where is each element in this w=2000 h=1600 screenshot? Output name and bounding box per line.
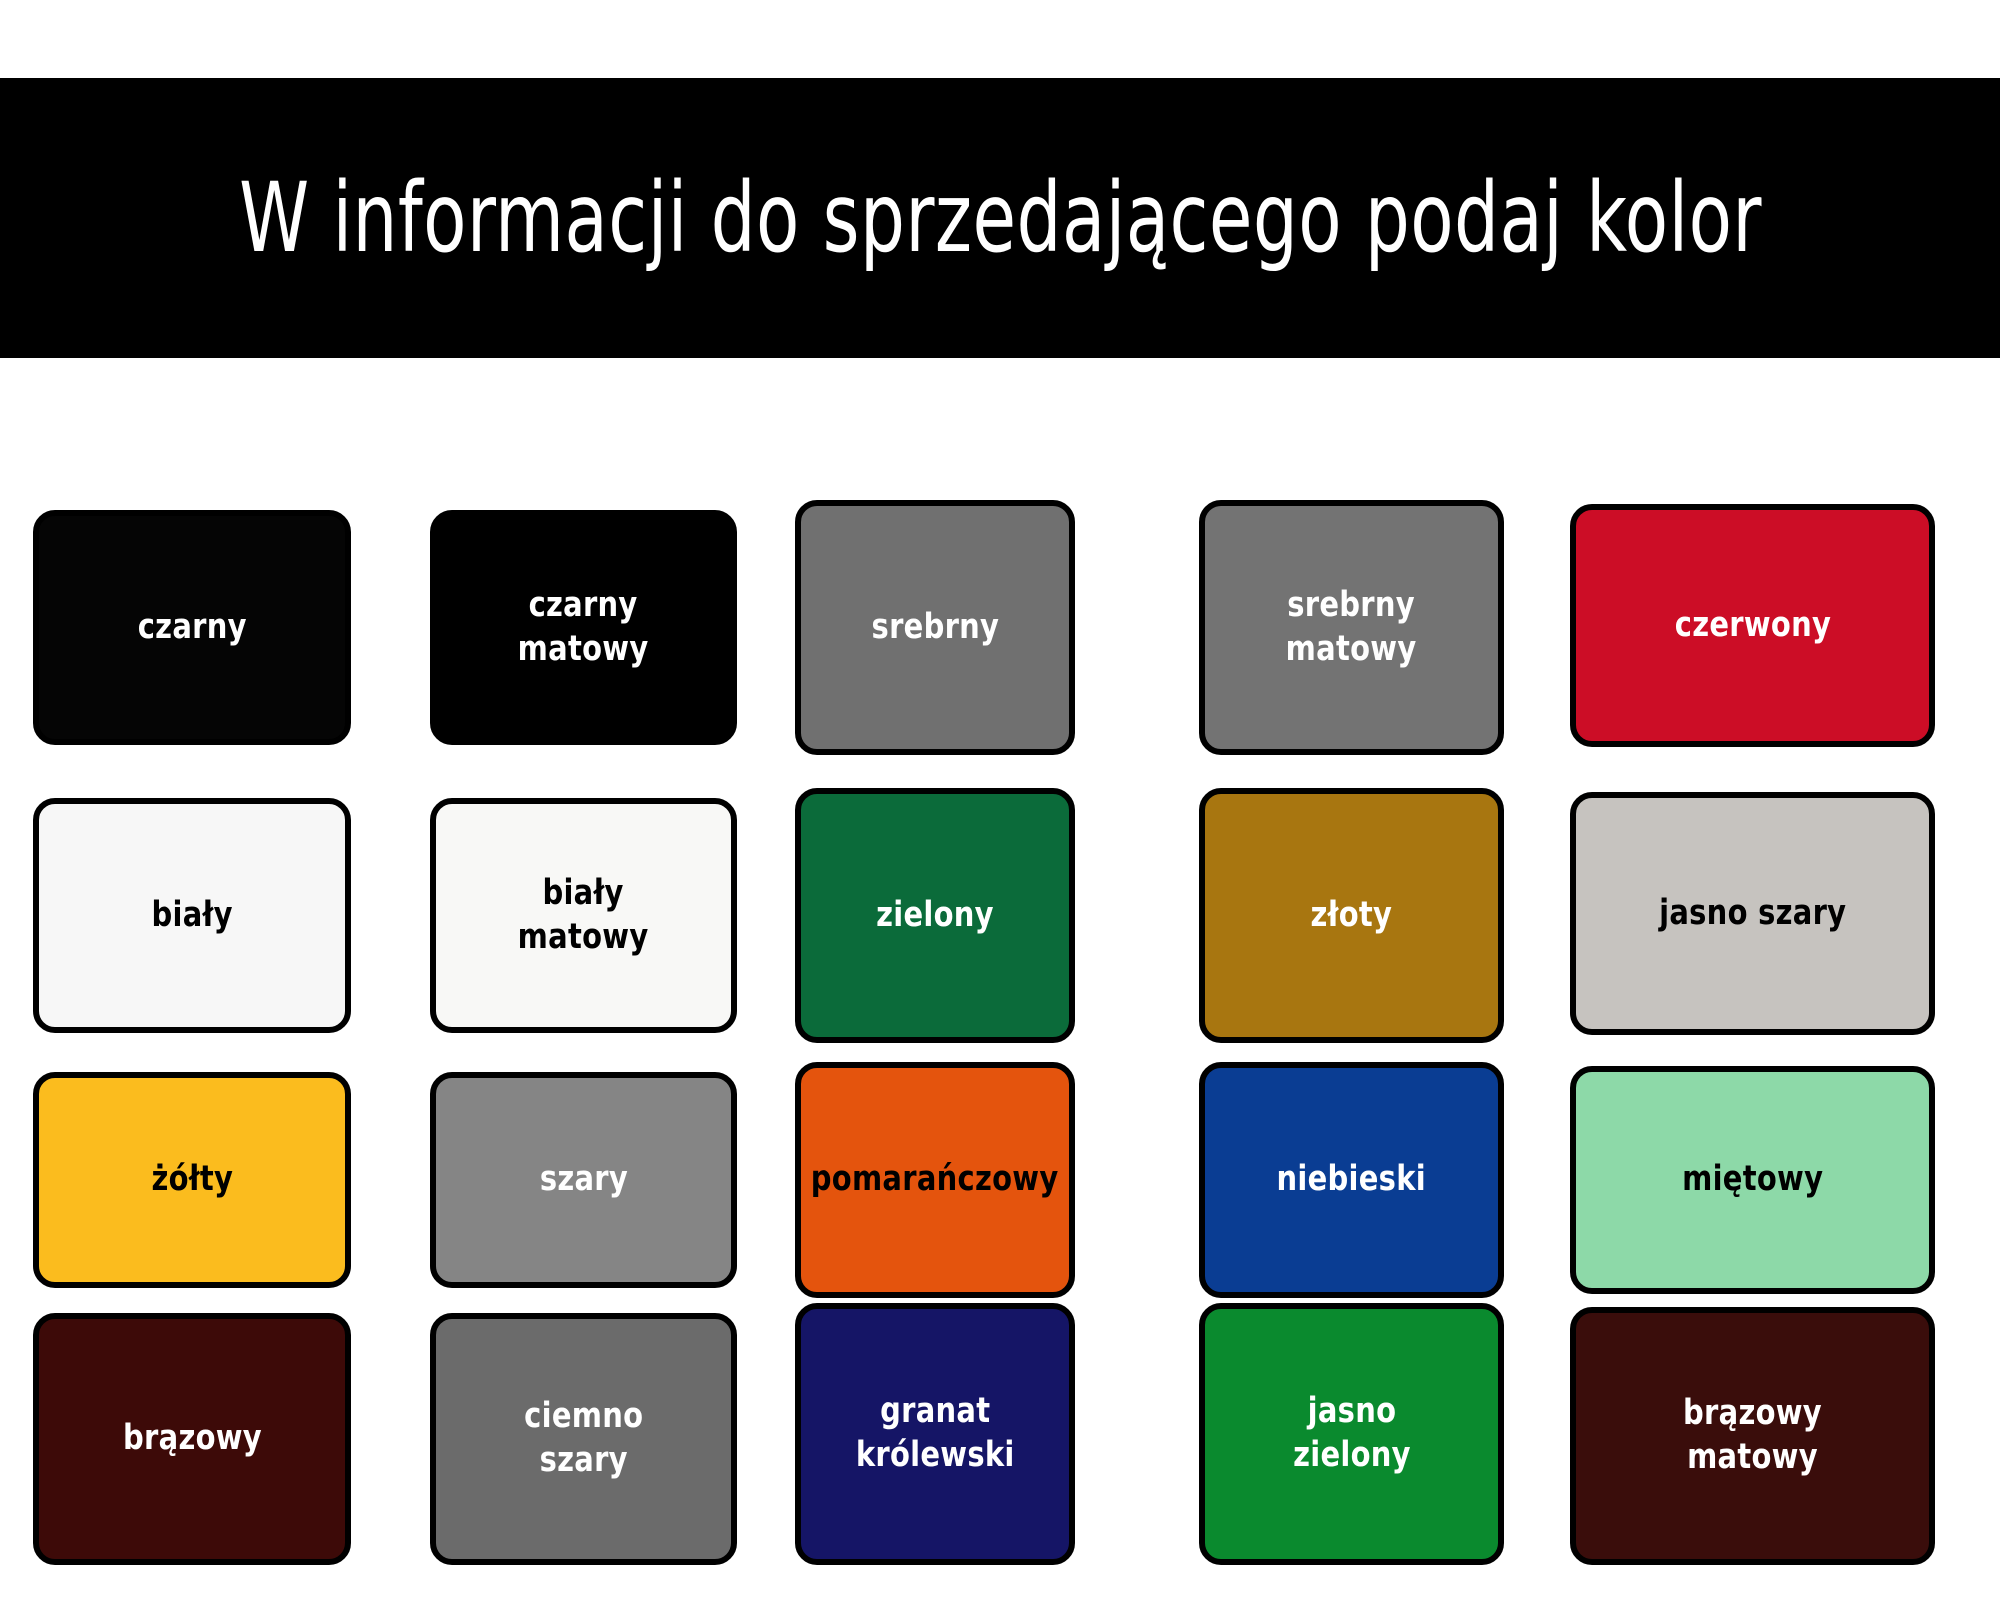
swatch-label: brązowy matowy <box>1674 1392 1831 1480</box>
swatch-label: biały matowy <box>509 872 658 960</box>
swatch-label: czerwony <box>1665 604 1840 648</box>
color-swatch-grid: czarny czarny matowy srebrny srebrny mat… <box>0 358 2000 1600</box>
page-title: W informacji do sprzedającego podaj kolo… <box>239 168 1762 269</box>
color-swatch[interactable]: niebieski <box>1199 1062 1504 1298</box>
swatch-label: żółty <box>142 1158 242 1202</box>
color-swatch[interactable]: srebrny matowy <box>1199 500 1504 755</box>
color-swatch[interactable]: złoty <box>1199 788 1504 1043</box>
color-swatch[interactable]: pomarańczowy <box>795 1062 1075 1298</box>
swatch-label: złoty <box>1301 894 1401 938</box>
color-swatch[interactable]: czarny matowy <box>430 510 737 745</box>
color-swatch[interactable]: zielony <box>795 788 1075 1043</box>
color-swatch[interactable]: biały <box>33 798 351 1033</box>
color-swatch[interactable]: granat królewski <box>795 1303 1075 1565</box>
color-swatch[interactable]: żółty <box>33 1072 351 1288</box>
header-banner: W informacji do sprzedającego podaj kolo… <box>0 78 2000 358</box>
color-swatch[interactable]: brązowy matowy <box>1570 1307 1935 1565</box>
color-swatch[interactable]: miętowy <box>1570 1066 1935 1294</box>
color-swatch[interactable]: czarny <box>33 510 351 745</box>
swatch-label: miętowy <box>1673 1158 1833 1202</box>
color-swatch[interactable]: jasno szary <box>1570 792 1935 1035</box>
swatch-label: zielony <box>867 894 1003 938</box>
swatch-label: niebieski <box>1268 1158 1436 1202</box>
swatch-label: pomarańczowy <box>802 1158 1068 1202</box>
swatch-label: ciemno szary <box>515 1395 653 1483</box>
swatch-label: jasno zielony <box>1283 1390 1419 1478</box>
color-swatch[interactable]: jasno zielony <box>1199 1303 1504 1565</box>
swatch-label: jasno szary <box>1650 892 1856 936</box>
swatch-label: biały <box>142 894 242 938</box>
top-white-strip <box>0 0 2000 78</box>
swatch-label: czarny matowy <box>509 584 658 672</box>
color-swatch[interactable]: ciemno szary <box>430 1313 737 1565</box>
color-swatch[interactable]: czerwony <box>1570 504 1935 747</box>
color-swatch[interactable]: srebrny <box>795 500 1075 755</box>
swatch-label: szary <box>530 1158 637 1202</box>
color-swatch[interactable]: brązowy <box>33 1313 351 1565</box>
color-swatch[interactable]: szary <box>430 1072 737 1288</box>
swatch-label: brązowy <box>113 1417 270 1461</box>
swatch-label: granat królewski <box>846 1390 1023 1478</box>
swatch-label: srebrny matowy <box>1277 584 1426 672</box>
swatch-label: srebrny <box>862 606 1008 650</box>
swatch-label: czarny <box>128 606 255 650</box>
color-swatch[interactable]: biały matowy <box>430 798 737 1033</box>
